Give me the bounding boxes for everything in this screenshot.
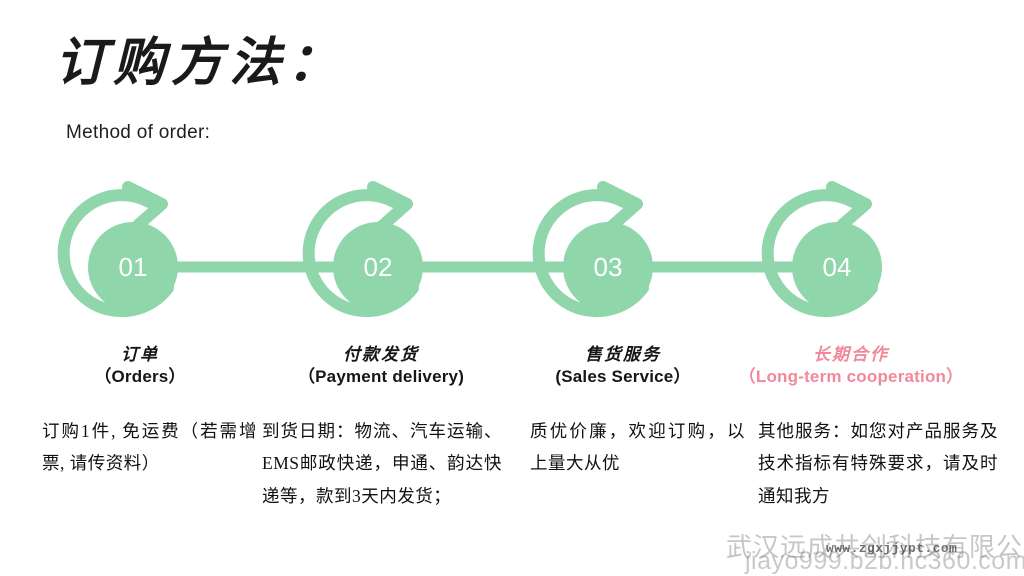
step-number: 02: [364, 252, 393, 282]
step-label-en: （Orders）: [15, 365, 265, 390]
step-label-02: 付款发货 （Payment delivery): [256, 344, 506, 390]
step-label-cn: 付款发货: [256, 344, 506, 365]
step-label-04: 长期合作 （Long-term cooperation）: [726, 344, 976, 390]
step-number: 03: [594, 252, 623, 282]
process-flow-diagram: 01 02 03 04: [0, 160, 1024, 325]
watermark-company-name: 武汉远成共创科技有限公司: [726, 527, 1024, 564]
step-description-04: 其他服务：如您对产品服务及技术指标有特殊要求，请及时通知我方: [758, 415, 998, 512]
step-label-cn: 长期合作: [726, 344, 976, 365]
process-step-01[interactable]: 01: [64, 187, 178, 312]
step-label-03: 售货服务 (Sales Service）: [498, 344, 748, 390]
step-number: 01: [119, 252, 148, 282]
process-step-04[interactable]: 04: [768, 187, 882, 312]
step-label-cn: 订单: [15, 344, 265, 365]
page-subtitle: Method of order:: [66, 122, 210, 144]
step-label-01: 订单 （Orders）: [15, 344, 265, 390]
step-description-01: 订购1件, 免运费（若需增票, 请传资料）: [42, 415, 257, 480]
step-label-en: (Sales Service）: [498, 365, 748, 390]
process-step-03[interactable]: 03: [539, 187, 653, 312]
watermark-site: jiayo999.b2b.hc360.com: [745, 547, 1024, 576]
step-description-02: 到货日期：物流、汽车运输、EMS邮政快递，申通、韵达快递等，款到3天内发货；: [262, 415, 502, 512]
step-label-en: （Long-term cooperation）: [726, 365, 976, 390]
page-title: 订购方法：: [55, 34, 345, 94]
step-label-cn: 售货服务: [498, 344, 748, 365]
step-description-03: 质优价廉，欢迎订购，以上量大从优: [530, 415, 745, 480]
process-step-02[interactable]: 02: [309, 187, 423, 312]
step-label-en: （Payment delivery): [256, 365, 506, 390]
watermark-url: www.zgxjjypt.com: [826, 541, 957, 556]
step-number: 04: [823, 252, 852, 282]
